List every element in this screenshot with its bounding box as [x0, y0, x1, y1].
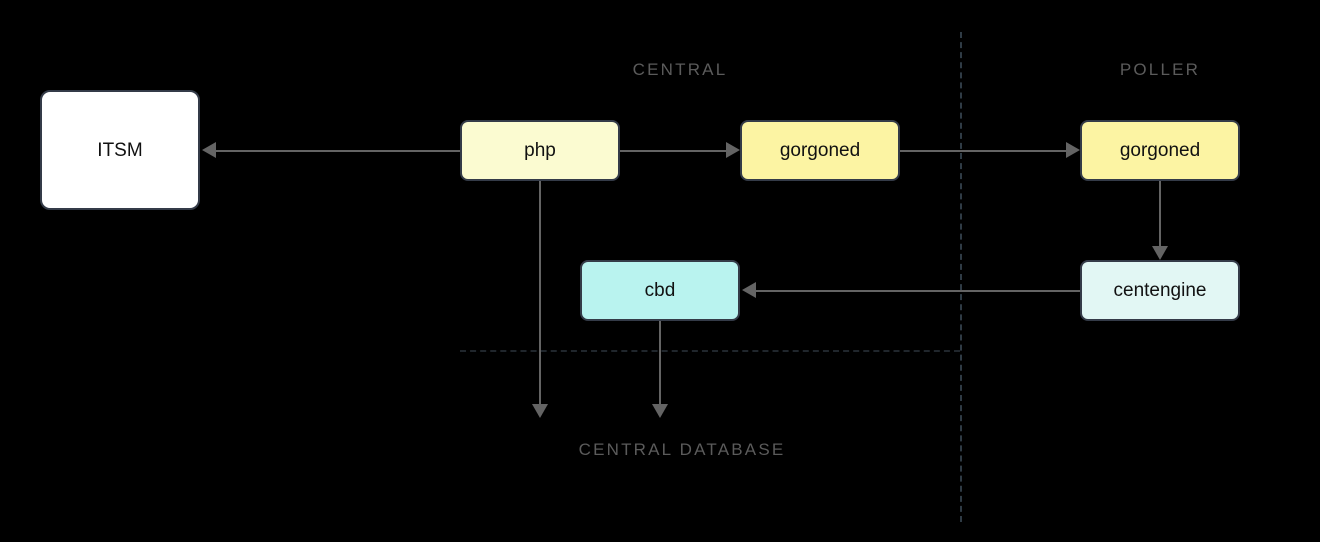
edge-line-php-to-gorgoned-central — [620, 150, 726, 152]
node-centengine[interactable]: centengine — [1080, 260, 1240, 321]
node-itsm-label: ITSM — [97, 141, 142, 160]
edge-line-centengine-to-cbd — [756, 290, 1080, 292]
edge-arrow-cbd-to-database — [652, 404, 668, 418]
node-gorgoned-central-label: gorgoned — [780, 141, 860, 160]
node-gorgoned-poller[interactable]: gorgoned — [1080, 120, 1240, 181]
architecture-diagram: CENTRAL POLLER CENTRAL DATABASE ITSM php… — [0, 0, 1320, 542]
node-gorgoned-central[interactable]: gorgoned — [740, 120, 900, 181]
database-divider — [460, 350, 960, 352]
edge-arrow-gorgoned-central-to-poller — [1066, 142, 1080, 158]
edge-arrow-php-to-itsm — [202, 142, 216, 158]
node-cbd-label: cbd — [645, 281, 676, 300]
node-centengine-label: centengine — [1114, 281, 1207, 300]
node-php[interactable]: php — [460, 120, 620, 181]
node-cbd[interactable]: cbd — [580, 260, 740, 321]
edge-arrow-centengine-to-cbd — [742, 282, 756, 298]
zone-label-central: CENTRAL — [580, 60, 780, 80]
edge-line-gorgoned-central-to-poller — [900, 150, 1066, 152]
node-php-label: php — [524, 141, 556, 160]
edge-arrow-gorgoned-poller-to-centengine — [1152, 246, 1168, 260]
edge-line-php-to-database — [539, 181, 541, 404]
edge-line-gorgoned-poller-to-centengine — [1159, 181, 1161, 246]
edge-line-php-to-itsm — [216, 150, 460, 152]
zone-label-poller: POLLER — [1060, 60, 1260, 80]
edge-arrow-php-to-gorgoned-central — [726, 142, 740, 158]
edge-line-cbd-to-database — [659, 321, 661, 404]
central-poller-divider — [960, 32, 962, 522]
edge-arrow-php-to-database — [532, 404, 548, 418]
node-gorgoned-poller-label: gorgoned — [1120, 141, 1200, 160]
zone-label-central-database: CENTRAL DATABASE — [532, 440, 832, 460]
node-itsm[interactable]: ITSM — [40, 90, 200, 210]
